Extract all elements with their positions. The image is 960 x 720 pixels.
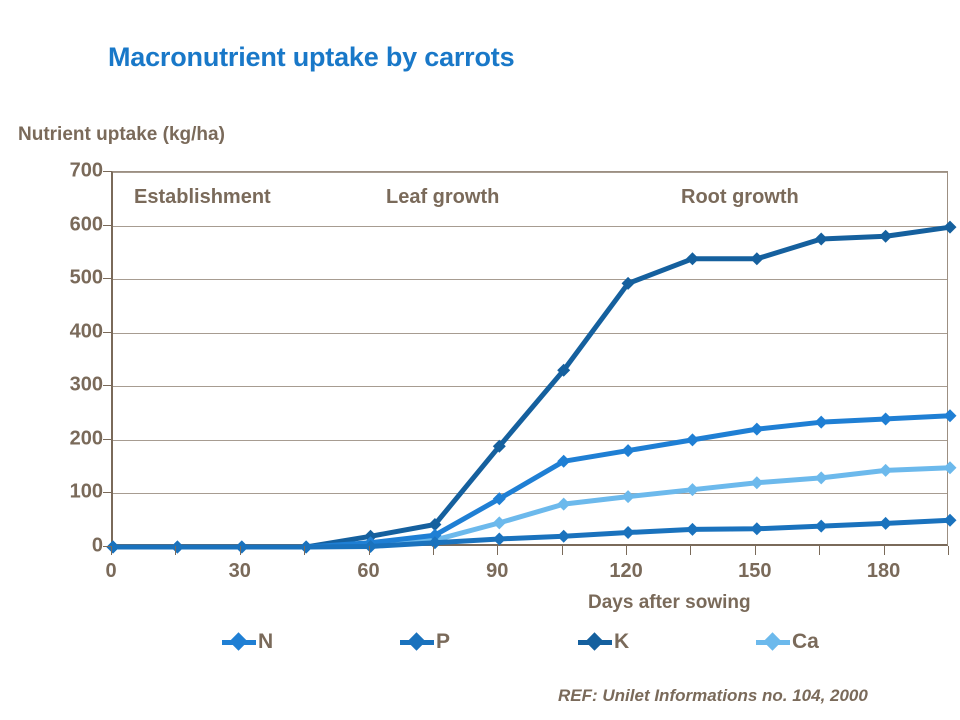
- data-point-marker: [879, 230, 892, 243]
- chart-page: Macronutrient uptake by carrots Nutrient…: [0, 0, 960, 720]
- y-axis-tick-mark: [103, 332, 112, 333]
- x-axis-tick-mark: [755, 546, 756, 555]
- x-axis-tick-mark: [240, 546, 241, 555]
- data-point-marker: [686, 433, 699, 446]
- legend-marker-icon: [578, 633, 612, 651]
- x-axis-title: Days after sowing: [588, 592, 751, 614]
- y-axis-tick-label: 700: [37, 160, 103, 183]
- x-axis-tick-mark: [626, 546, 627, 555]
- legend-item-p[interactable]: P: [400, 628, 450, 656]
- y-axis-tick-label: 0: [37, 535, 103, 558]
- y-axis-title: Nutrient uptake (kg/ha): [18, 124, 225, 146]
- data-point-marker: [944, 221, 957, 234]
- data-point-marker: [171, 541, 184, 554]
- page-title: Macronutrient uptake by carrots: [108, 42, 514, 73]
- y-axis-tick-label: 300: [37, 374, 103, 397]
- y-axis-tick-label: 400: [37, 320, 103, 343]
- y-axis-tick-label: 600: [37, 213, 103, 236]
- x-axis-tick-label: 60: [357, 560, 379, 583]
- legend-item-k[interactable]: K: [578, 628, 629, 656]
- data-point-marker: [815, 520, 828, 533]
- stage-label-leaf-growth: Leaf growth: [386, 186, 499, 209]
- x-axis-tick-mark: [304, 546, 305, 555]
- legend-item-n[interactable]: N: [222, 628, 273, 656]
- data-point-marker: [750, 522, 763, 535]
- data-point-marker: [686, 523, 699, 536]
- chart-legend: NPKCa: [222, 628, 842, 656]
- series-n: [107, 409, 957, 553]
- data-point-marker: [686, 483, 699, 496]
- x-axis-tick-mark: [369, 546, 370, 555]
- data-point-marker: [879, 517, 892, 530]
- data-point-marker: [493, 516, 506, 529]
- y-axis-tick-label: 100: [37, 481, 103, 504]
- reference-note: REF: Unilet Informations no. 104, 2000: [558, 686, 868, 706]
- x-axis-tick-mark: [111, 546, 112, 555]
- y-axis-tick-label: 200: [37, 427, 103, 450]
- data-point-marker: [815, 232, 828, 245]
- data-point-marker: [815, 471, 828, 484]
- x-axis-tick-label: 30: [229, 560, 251, 583]
- x-axis-tick-label: 180: [867, 560, 900, 583]
- y-axis-tick-mark: [103, 439, 112, 440]
- y-axis-tick-mark: [103, 492, 112, 493]
- legend-label: N: [258, 630, 273, 654]
- data-point-marker: [944, 514, 957, 527]
- plot-area: [111, 171, 948, 546]
- legend-label: K: [614, 630, 629, 654]
- data-point-marker: [686, 252, 699, 265]
- y-axis-tick-mark: [103, 278, 112, 279]
- x-axis-tick-label: 150: [738, 560, 771, 583]
- legend-marker-icon: [222, 633, 256, 651]
- series-line: [113, 227, 950, 547]
- y-axis-tick-mark: [103, 225, 112, 226]
- data-point-marker: [557, 530, 570, 543]
- legend-marker-icon: [400, 633, 434, 651]
- stage-label-establishment: Establishment: [134, 186, 271, 209]
- y-axis-tick-mark: [103, 546, 112, 547]
- data-point-marker: [622, 444, 635, 457]
- x-axis-tick-mark: [690, 546, 691, 555]
- legend-label: P: [436, 630, 450, 654]
- x-axis-tick-label: 120: [609, 560, 642, 583]
- data-point-marker: [750, 423, 763, 436]
- y-axis-tick-label: 500: [37, 267, 103, 290]
- data-point-marker: [879, 412, 892, 425]
- data-point-marker: [622, 490, 635, 503]
- legend-label: Ca: [792, 630, 819, 654]
- series-p: [107, 514, 957, 554]
- data-point-marker: [750, 476, 763, 489]
- legend-diamond-icon: [763, 632, 781, 650]
- data-point-marker: [300, 541, 313, 554]
- data-point-marker: [622, 526, 635, 539]
- y-axis-tick-mark: [103, 171, 112, 172]
- legend-marker-icon: [756, 633, 790, 651]
- x-axis-tick-mark: [884, 546, 885, 555]
- data-point-marker: [944, 461, 957, 474]
- data-point-marker: [879, 464, 892, 477]
- x-axis-tick-mark: [562, 546, 563, 555]
- y-axis-tick-mark: [103, 385, 112, 386]
- x-axis-tick-mark: [175, 546, 176, 555]
- stage-label-root-growth: Root growth: [681, 186, 799, 209]
- x-axis-tick-mark: [948, 546, 949, 555]
- y-axis-tick-labels: 0100200300400500600700: [33, 171, 103, 546]
- series-k: [107, 221, 957, 554]
- legend-diamond-icon: [585, 632, 603, 650]
- data-point-marker: [557, 498, 570, 511]
- data-point-marker: [107, 541, 120, 554]
- data-point-marker: [815, 416, 828, 429]
- legend-diamond-icon: [407, 632, 425, 650]
- data-point-marker: [235, 541, 248, 554]
- data-point-marker: [750, 252, 763, 265]
- data-point-marker: [944, 409, 957, 422]
- x-axis-tick-mark: [497, 546, 498, 555]
- legend-item-ca[interactable]: Ca: [756, 628, 819, 656]
- x-axis-tick-mark: [433, 546, 434, 555]
- x-axis-tick-label: 0: [105, 560, 116, 583]
- series-layer: [113, 172, 950, 547]
- legend-diamond-icon: [229, 632, 247, 650]
- x-axis-tick-label: 90: [486, 560, 508, 583]
- x-axis-tick-mark: [819, 546, 820, 555]
- data-point-marker: [493, 532, 506, 545]
